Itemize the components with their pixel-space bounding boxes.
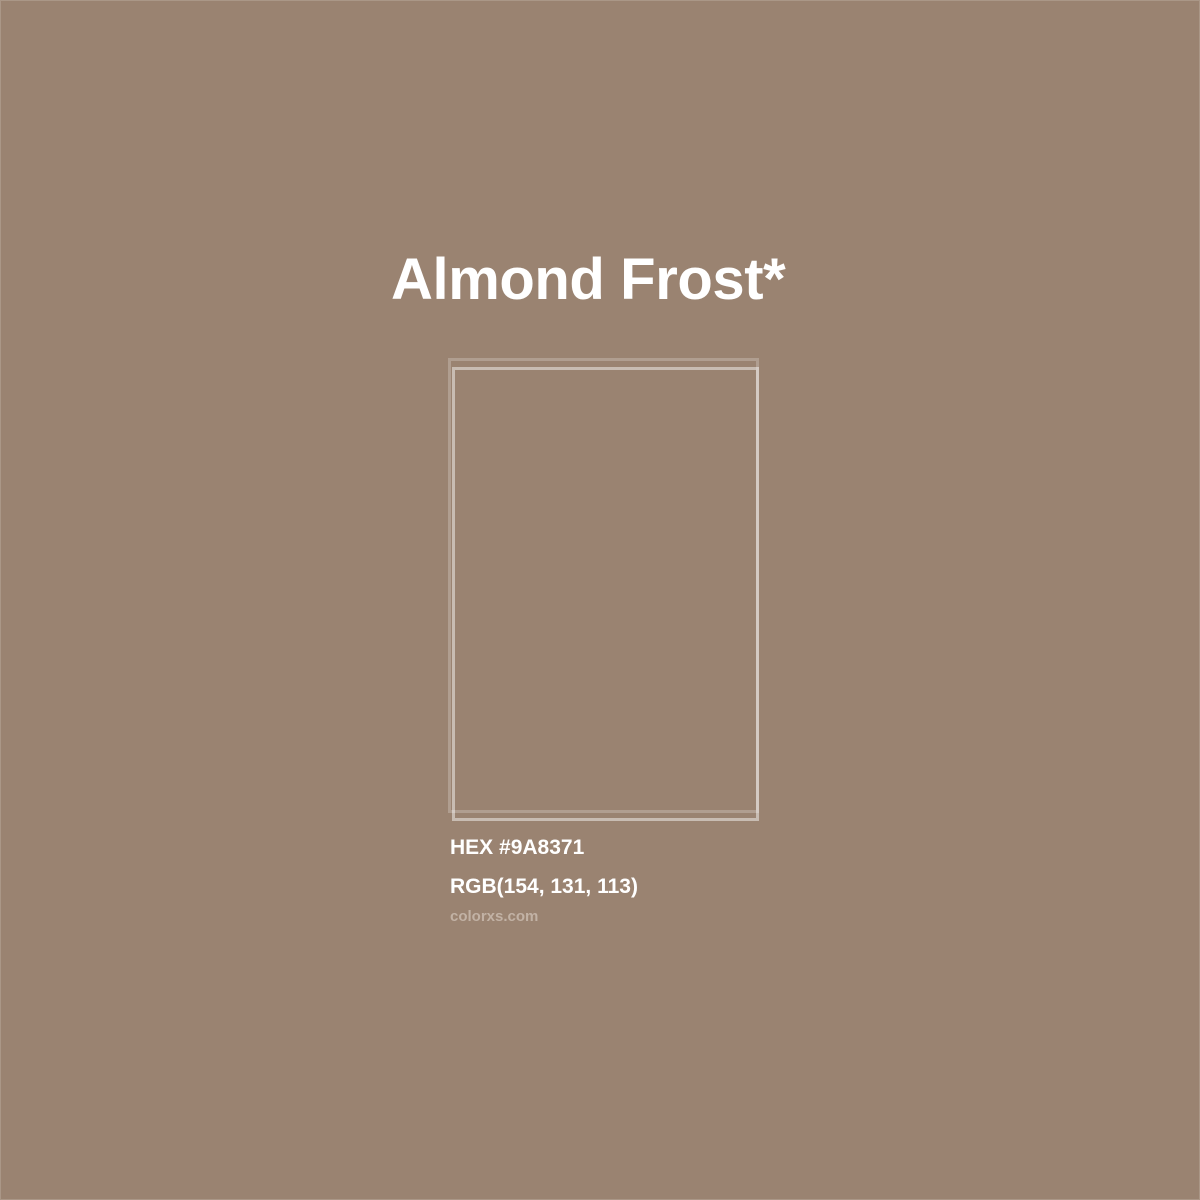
color-swatch [440,350,770,835]
color-swatch-page: Almond Frost* HEX #9A8371 RGB(154, 131, … [0,0,1200,1200]
swatch-frame-inner [452,367,759,821]
site-credit-label: colorxs.com [450,907,538,927]
page-title: Almond Frost* [391,246,785,314]
rgb-value-label: RGB(154, 131, 113) [450,874,638,900]
hex-value-label: HEX #9A8371 [450,835,584,861]
